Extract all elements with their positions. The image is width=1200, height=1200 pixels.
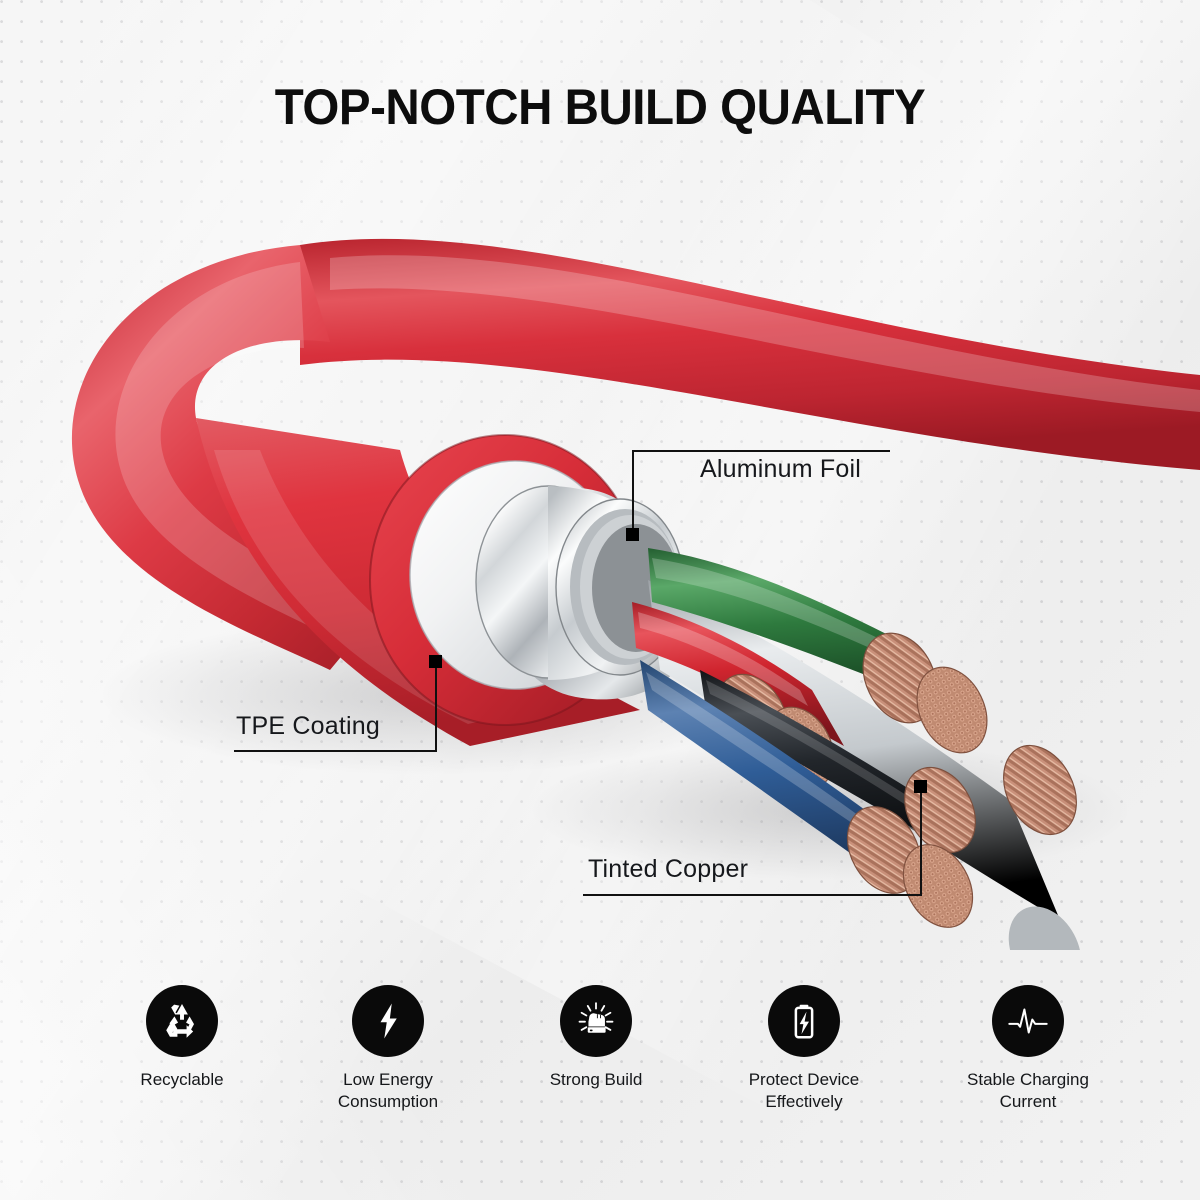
feature-label: Strong Build: [496, 1069, 696, 1091]
lightning-bolt-icon: [368, 1001, 408, 1041]
feature-label: Low Energy Consumption: [288, 1069, 488, 1113]
callout-leader-line-vertical: [920, 788, 922, 895]
callout-label-aluminum-foil: Aluminum Foil: [700, 455, 861, 484]
battery-bolt-icon: [784, 1001, 824, 1041]
callout-marker-square: [429, 655, 442, 668]
callout-marker-square: [626, 528, 639, 541]
feature-icon-circle: [560, 985, 632, 1057]
feature-label: Stable Charging Current: [928, 1069, 1128, 1113]
feature-low-energy-consumption[interactable]: Low Energy Consumption: [288, 985, 488, 1113]
feature-icon-circle: [768, 985, 840, 1057]
feature-icon-circle: [146, 985, 218, 1057]
callout-label-tpe-coating: TPE Coating: [236, 712, 380, 741]
feature-icon-circle: [992, 985, 1064, 1057]
callout-leader-line-horizontal: [583, 894, 922, 896]
callout-leader-line-horizontal: [632, 450, 890, 452]
feature-row: Recyclable Low Energy Consumption: [0, 985, 1200, 1165]
feature-stable-charging-current[interactable]: Stable Charging Current: [928, 985, 1128, 1113]
callout-label-tinted-copper: Tinted Copper: [588, 855, 748, 884]
page-title: TOP-NOTCH BUILD QUALITY: [30, 78, 1170, 136]
callout-leader-line-vertical: [632, 450, 634, 536]
recycle-icon: [161, 1000, 203, 1042]
strong-fist-icon: [574, 999, 618, 1043]
feature-label: Recyclable: [82, 1069, 282, 1091]
cable-cutaway-illustration: [0, 150, 1200, 950]
feature-icon-circle: [352, 985, 424, 1057]
product-infographic: TOP-NOTCH BUILD QUALITY: [0, 0, 1200, 1200]
feature-protect-device-effectively[interactable]: Protect Device Effectively: [704, 985, 904, 1113]
callout-marker-square: [914, 780, 927, 793]
pulse-wave-icon: [1005, 998, 1051, 1044]
callout-leader-line-vertical: [435, 663, 437, 752]
feature-strong-build[interactable]: Strong Build: [496, 985, 696, 1091]
feature-label: Protect Device Effectively: [704, 1069, 904, 1113]
callout-leader-line-horizontal: [234, 750, 437, 752]
feature-recyclable[interactable]: Recyclable: [82, 985, 282, 1091]
